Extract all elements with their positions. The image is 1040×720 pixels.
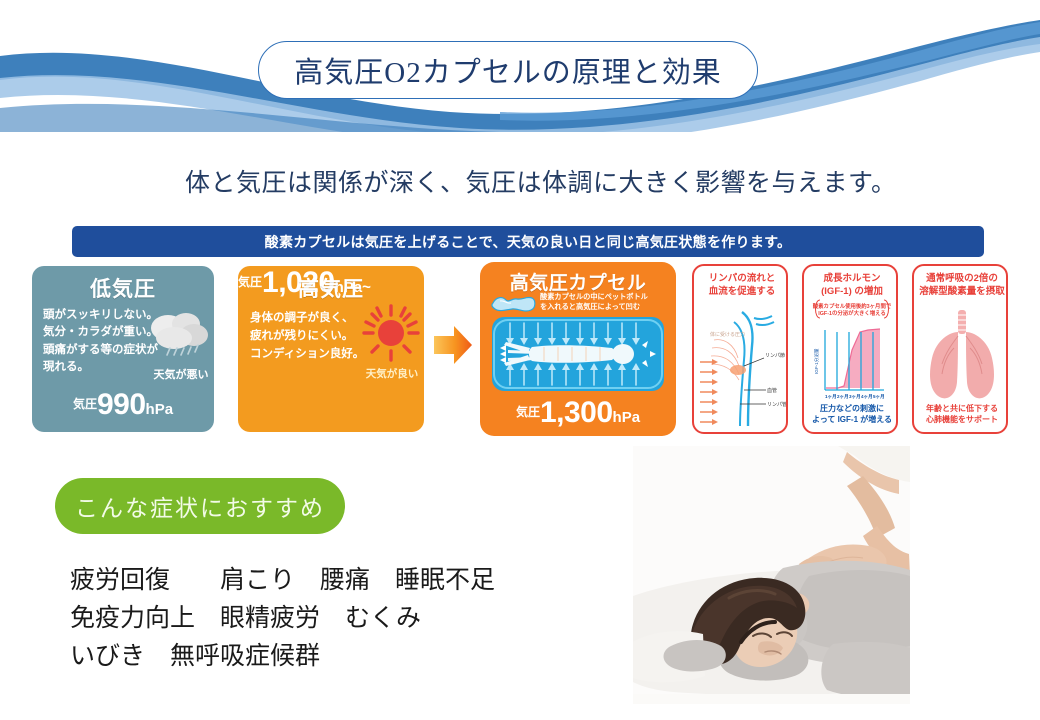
card-capsule-pressure-value: 1,300 [540,396,613,429]
card-high-weather-label: 天気が良い [362,366,422,381]
panel-igf1-footer: 圧力などの刺激に よって IGF-1 が増える [804,404,898,426]
card-high-body: 身体の調子が良く、 疲れが残りにくい。 コンディション良好。 [250,310,378,363]
card-low-pressure-prefix: 気圧 [73,397,97,411]
svg-text:3ヶ月: 3ヶ月 [849,393,861,400]
svg-text:血管: 血管 [767,387,777,394]
sun-icon [360,302,422,364]
svg-text:5ヶ月: 5ヶ月 [873,393,885,400]
card-capsule-note: 酸素カプセルの中にペットボトル を入れると高気圧によって凹む [540,292,670,311]
card-low-pressure: 気圧990hPa [32,388,214,422]
capsule-pressure-diagram [492,317,664,391]
card-low-pressure: 低気圧 頭がスッキリしない。 気分・カラダが重い。 頭痛がする等の症状が 現れる… [32,266,214,432]
page-title: 高気圧O2カプセルの原理と効果 [294,49,721,91]
card-high-title: 高気圧 [238,273,424,303]
svg-text:リンパ管: リンパ管 [767,401,787,408]
panel-igf1: 成長ホルモン (IGF-1) の増加 酸素カプセル使用後約3ヶ月間で IGF-1… [802,264,898,434]
symptom-line: いびき 無呼吸症候群 [70,638,590,676]
card-capsule-pressure: 気圧1,300hPa [480,396,676,430]
rain-cloud-icon [144,308,212,368]
card-low-pressure-value: 990 [97,388,146,421]
massage-photo [633,446,910,704]
svg-text:体に受ける圧力: 体に受ける圧力 [710,331,745,338]
card-capsule: 高気圧カプセル 酸素カプセルの中にペットボトル を入れると高気圧によって凹む [480,262,676,436]
pressure-cards-row: 低気圧 頭がスッキリしない。 気分・カラダが重い。 頭痛がする等の症状が 現れる… [0,266,1040,441]
card-low-weather-label: 天気が悪い [148,366,214,382]
svg-text:リンパ節: リンパ節 [765,352,785,359]
card-capsule-title: 高気圧カプセル [480,268,676,295]
slide-title-pill: 高気圧O2カプセルの原理と効果 [258,41,758,99]
symptom-line: 疲労回復 肩こり 腰痛 睡眠不足 [70,562,590,600]
svg-text:1ヶ月: 1ヶ月 [825,393,837,400]
slide-root: 高気圧O2カプセルの原理と効果 体と気圧は関係が深く、気圧は体調に大きく影響を与… [0,0,1040,720]
panel-lungs-footer: 年齢と共に低下する 心肺機能をサポート [914,404,1008,426]
recommended-symptoms-badge: こんな症状におすすめ [55,478,345,534]
info-banner-text: 酸素カプセルは気圧を上げることで、天気の良い日と同じ高気圧状態を作ります。 [265,232,792,252]
card-capsule-pressure-prefix: 気圧 [516,405,540,419]
card-high-pressure: 高気圧 身体の調子が良く、 疲れが残りにくい。 コンディション良好。 天気が良い… [238,266,424,432]
panel-lymph-flow: リンパの流れと 血流を促進する [692,264,788,434]
card-capsule-pressure-unit: hPa [613,409,641,426]
panel-lungs: 通常呼吸の2倍の 溶解型酸素量を摂取 年齢と共に低下する 心肺機能をサポート [912,264,1008,434]
orange-arrow-icon [432,321,474,369]
symptom-list: 疲労回復 肩こり 腰痛 睡眠不足 免疫力向上 眼精疲労 むくみ いびき 無呼吸症… [70,562,590,676]
svg-text:4ヶ月: 4ヶ月 [861,393,873,400]
card-low-pressure-unit: hPa [146,401,174,418]
symptom-line: 免疫力向上 眼精疲労 むくみ [70,600,590,638]
crushed-bottle-icon [490,292,538,314]
card-low-title: 低気圧 [32,273,214,303]
recommended-symptoms-label: こんな症状におすすめ [75,489,325,523]
svg-text:2ヶ月: 2ヶ月 [837,393,849,400]
slide-subtitle: 体と気圧は関係が深く、気圧は体調に大きく影響を与えます。 [185,163,945,199]
lymph-flow-diagram: リンパ節 血管 リンパ管 体に受ける圧力 [694,266,788,434]
svg-text:IGF-1分泌量: IGF-1分泌量 [813,348,820,374]
info-banner: 酸素カプセルは気圧を上げることで、天気の良い日と同じ高気圧状態を作ります。 [72,226,984,257]
